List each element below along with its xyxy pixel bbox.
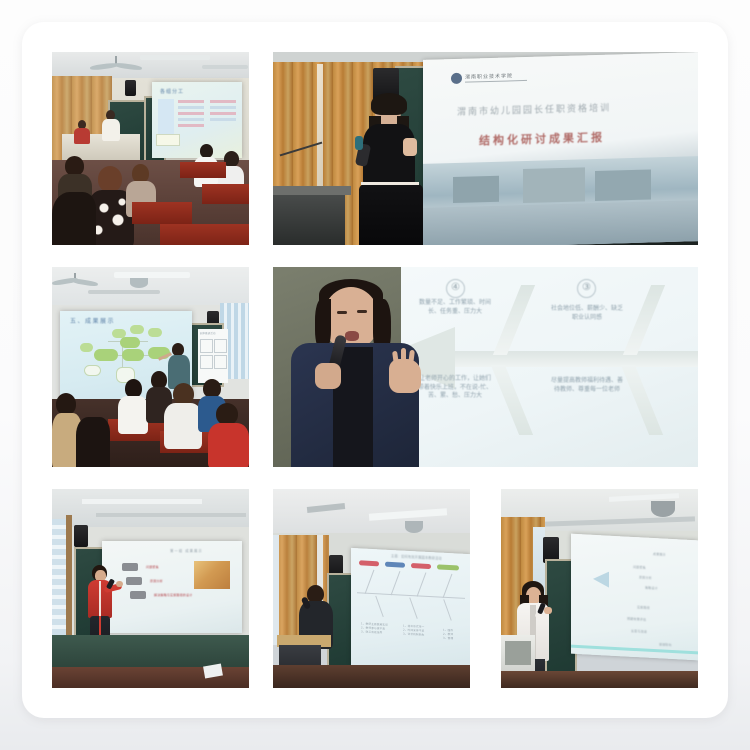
photo-6-scene: 主题：如何有效开展园本教研活动 1、教研主题脱离实际2、教师参与度不高3、缺乏有… xyxy=(273,489,470,688)
mindmap-node xyxy=(148,328,162,337)
photo-mindmap-classroom[interactable]: 园本教研活动 五、成果展示 xyxy=(52,267,249,467)
head xyxy=(173,383,194,405)
slide-row xyxy=(210,112,236,115)
hair xyxy=(76,417,110,467)
slide-title: 主题：如何有效开展园本教研活动 xyxy=(391,554,442,561)
slide-text: 问题聚焦 xyxy=(633,565,646,570)
slide-row xyxy=(178,124,204,127)
slide-tag xyxy=(437,564,459,570)
ceiling-projector xyxy=(130,278,148,288)
slide-image xyxy=(194,561,230,589)
slide-tag xyxy=(359,560,379,566)
flip-chart-box xyxy=(200,355,213,369)
institution-name: 渭南职业技术学院 xyxy=(465,72,513,80)
student-desk xyxy=(132,202,192,224)
presenter-standing xyxy=(102,110,120,140)
photo-podium-fishbone[interactable]: 主题：如何有效开展园本教研活动 1、教研主题脱离实际2、教师参与度不高3、缺乏有… xyxy=(273,489,470,688)
photo-4-scene: ④ 数量不足、工作繁琐、时间长、任务重、压力大 让老师开心的工作，让她们带着快乐… xyxy=(273,267,698,467)
collage-card: 各组分工 xyxy=(22,22,728,718)
fishbone-rib xyxy=(375,596,383,617)
window-sliver xyxy=(273,535,279,645)
skirt xyxy=(359,184,423,245)
fishbone-rib xyxy=(443,574,453,598)
fishbone-rib xyxy=(493,285,535,355)
ceiling-light xyxy=(114,272,190,278)
fishbone-spine xyxy=(357,592,465,599)
slide-title: 第一组 成果展示 xyxy=(170,549,203,554)
podium xyxy=(273,192,345,245)
student-desk xyxy=(160,224,249,245)
hand-holding-mic xyxy=(315,363,341,389)
mouth xyxy=(345,331,359,341)
photo-white-jacket-presenter[interactable]: 成果展示 问题聚焦 原因分析 策略设计 实施路径 预期效果评估 反思与改进 谢谢… xyxy=(501,489,698,688)
campus-photo-band xyxy=(423,156,698,245)
ceiling-beam xyxy=(82,499,202,504)
photo-grid: 各组分工 xyxy=(52,52,698,688)
slide-text: 谢谢聆听 xyxy=(659,642,672,647)
audience-member xyxy=(52,192,96,245)
ceiling-light-2 xyxy=(88,290,160,294)
fishbone-text-top-3: 社会地位低、薪酬少、缺乏职业认同感 xyxy=(551,305,623,322)
projector-screen: 第一组 成果展示 问题聚焦 原因分析 解决策略与实施路径的设计 xyxy=(102,541,242,633)
speaker-box xyxy=(74,525,88,547)
student-desk xyxy=(202,184,249,204)
mindmap-node xyxy=(120,337,140,348)
photo-5-scene: 第一组 成果展示 问题聚焦 原因分析 解决策略与实施路径的设计 xyxy=(52,489,249,688)
photo-2-scene: 渭南职业技术学院 渭南市幼儿园园长任职资格培训 结构化研讨成果汇报 xyxy=(273,52,698,245)
presenter-seated xyxy=(74,120,90,142)
photo-7-scene: 成果展示 问题聚焦 原因分析 策略设计 实施路径 预期效果评估 反思与改进 谢谢… xyxy=(501,489,698,688)
fishbone-rib xyxy=(491,365,533,435)
slide-title: 各组分工 xyxy=(160,89,184,96)
photo-classroom-audience[interactable]: 各组分工 xyxy=(52,52,249,245)
floor xyxy=(501,671,698,688)
campus-building xyxy=(523,167,585,203)
torso xyxy=(102,119,120,141)
hair xyxy=(371,93,407,115)
jacket-zip xyxy=(99,581,101,617)
fishbone-rib xyxy=(365,570,375,594)
torso xyxy=(208,423,249,467)
floor xyxy=(273,665,470,688)
slide-note: 1、园所2、教师3、管理 xyxy=(443,629,453,642)
window-frame xyxy=(66,515,72,643)
slide-tag xyxy=(385,562,405,568)
fishbone-number-4: ④ xyxy=(446,279,465,298)
head xyxy=(65,156,84,176)
slide-subtitle: 结构化研讨成果汇报 xyxy=(479,129,605,149)
slide-text: 预期效果评估 xyxy=(627,617,646,622)
ceiling-rail xyxy=(96,513,246,517)
projector-screen: 主题：如何有效开展园本教研活动 1、教研主题脱离实际2、教师参与度不高3、缺乏有… xyxy=(351,548,470,672)
fishbone-rib xyxy=(621,365,663,435)
hand xyxy=(544,607,552,614)
slide-text: 反思与改进 xyxy=(631,629,647,634)
flip-chart: 园本教研活动 xyxy=(198,329,228,383)
slide-tag xyxy=(411,563,431,569)
slide-chip xyxy=(130,591,146,599)
ceiling-projector xyxy=(651,501,675,517)
finger xyxy=(401,348,406,364)
slide-row xyxy=(210,118,236,121)
slide-row-label: 原因分析 xyxy=(150,579,163,583)
flip-chart-box xyxy=(200,339,213,353)
mindmap-node xyxy=(122,349,144,361)
photo-title-slide-speaker[interactable]: 渭南职业技术学院 渭南市幼儿园园长任职资格培训 结构化研讨成果汇报 xyxy=(273,52,698,245)
slide-title: 五、成果展示 xyxy=(70,318,115,326)
photo-fishbone-speaker[interactable]: ④ 数量不足、工作繁琐、时间长、任务重、压力大 让老师开心的工作，让她们带着快乐… xyxy=(273,267,698,467)
fishbone-text-bottom-3: 尽量提高教师福利待遇、善待教师、尊重每一位老师 xyxy=(549,377,625,394)
campus-water xyxy=(423,200,698,245)
slide-row-label: 问题聚焦 xyxy=(146,565,159,569)
slide-text: 原因分析 xyxy=(639,575,652,580)
projector-screen: ④ 数量不足、工作繁琐、时间长、任务重、压力大 让老师开心的工作，让她们带着快乐… xyxy=(401,267,698,467)
campus-building xyxy=(453,176,499,203)
slide-row xyxy=(178,100,204,103)
slide-row-label: 解决策略与实施路径的设计 xyxy=(154,593,192,597)
campus-building xyxy=(595,169,651,201)
hair xyxy=(52,192,96,245)
head xyxy=(98,166,122,192)
slide-text: 实施路径 xyxy=(637,605,650,610)
audience-member xyxy=(164,383,202,445)
photo-1-scene: 各组分工 xyxy=(52,52,249,245)
slide-row xyxy=(178,106,204,109)
slide-row xyxy=(178,112,204,115)
photo-3-scene: 园本教研活动 五、成果展示 xyxy=(52,267,249,467)
student-desk xyxy=(180,162,226,178)
flip-chart-line: 园本教研活动 xyxy=(200,332,216,335)
slide-row xyxy=(210,100,236,103)
presenter xyxy=(355,96,425,245)
ceiling-projector xyxy=(405,521,423,533)
fishbone-rib xyxy=(409,597,417,618)
head xyxy=(56,393,76,415)
slide-arrow-icon xyxy=(593,571,609,588)
speaker-box xyxy=(125,80,136,96)
mindmap-node-outline xyxy=(84,365,101,376)
torso xyxy=(74,128,90,144)
mindmap-node xyxy=(94,349,118,361)
belt xyxy=(361,182,419,185)
head xyxy=(200,144,213,158)
flip-chart-box xyxy=(214,355,227,369)
fishbone-rib xyxy=(391,571,401,595)
head xyxy=(216,403,238,425)
slide-chip xyxy=(122,563,138,571)
slide-chip xyxy=(126,577,142,585)
hand xyxy=(403,138,417,156)
photo-red-tracksuit-presenter[interactable]: 第一组 成果展示 问题聚焦 原因分析 解决策略与实施路径的设计 xyxy=(52,489,249,688)
slide-title: 渭南市幼儿园园长任职资格培训 xyxy=(457,101,611,118)
projector-screen: 成果展示 问题聚焦 原因分析 策略设计 实施路径 预期效果评估 反思与改进 谢谢… xyxy=(571,534,698,661)
slide-row xyxy=(178,118,204,121)
projector-screen: 渭南职业技术学院 渭南市幼儿园园长任职资格培训 结构化研讨成果汇报 xyxy=(423,52,698,245)
head xyxy=(224,151,239,167)
slide-callout xyxy=(156,134,180,146)
eye xyxy=(337,311,347,314)
fishbone-rib xyxy=(623,285,665,355)
eye xyxy=(357,310,367,313)
ceiling-light-2 xyxy=(202,65,248,69)
podium-top xyxy=(273,186,351,195)
torso xyxy=(363,124,415,188)
slide-note: 1、组织形式单一2、时间安排不足3、评价机制缺失 xyxy=(403,625,424,639)
slide-row xyxy=(210,106,236,109)
audience-member xyxy=(76,417,110,467)
ceiling xyxy=(52,489,249,529)
fishbone-rib xyxy=(417,572,427,596)
hand xyxy=(116,581,123,587)
microphone xyxy=(355,136,363,150)
torso xyxy=(164,403,202,449)
torso xyxy=(118,396,148,434)
ceiling-light xyxy=(140,55,210,60)
slide-text: 策略设计 xyxy=(645,586,658,591)
institution-logo-icon xyxy=(451,73,462,84)
slide-text: 成果展示 xyxy=(653,552,666,557)
lectern-shelf xyxy=(505,641,531,665)
mindmap-node xyxy=(80,343,93,352)
audience-member xyxy=(118,379,148,431)
fishbone-rib xyxy=(443,599,451,620)
presenter xyxy=(285,277,431,467)
audience-member-red xyxy=(208,403,249,467)
mindmap-node xyxy=(130,325,144,334)
fishbone-number-3: ③ xyxy=(577,279,596,298)
slide-bottom-band xyxy=(571,645,698,655)
flip-chart-box xyxy=(214,339,227,353)
slide-note: 1、教研主题脱离实际2、教师参与度不高3、缺乏有效指导 xyxy=(361,622,388,636)
